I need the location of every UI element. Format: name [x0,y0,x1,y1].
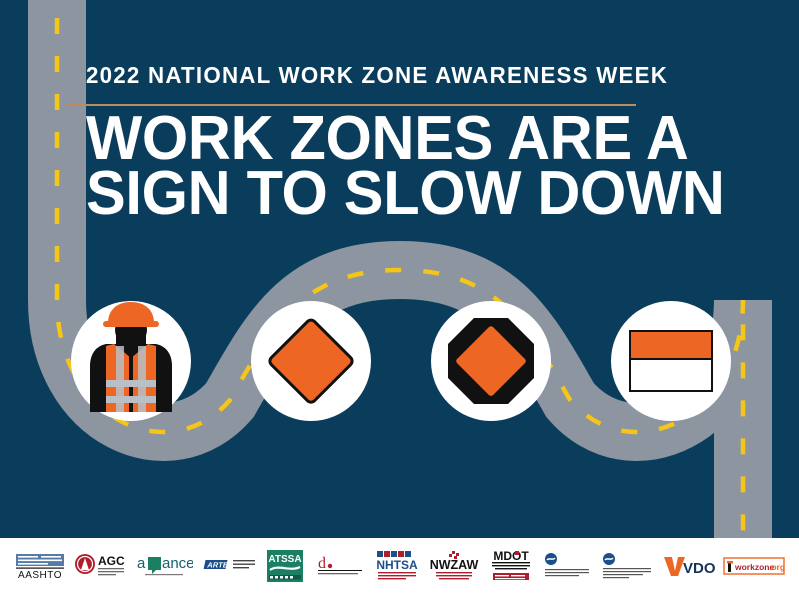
mdot-logo: MDOT [487,547,535,585]
workzonesafety-logo: workzone .org [723,547,785,585]
svg-text:AASHTO: AASHTO [18,570,62,581]
construction-worker-icon [71,301,191,421]
svg-text:AGC: AGC [98,554,125,568]
svg-text:d: d [318,555,326,572]
nhtsa-logo: NHTSA [373,547,421,585]
alliance-logo: a ance [135,547,193,585]
svg-text:VDOT: VDOT [683,560,715,577]
artba-logo: ARTBA [201,547,257,585]
headline-line-2: SIGN TO SLOW DOWN [86,167,700,222]
rectangular-sign-icon [611,301,731,421]
svg-text:a: a [137,555,146,572]
octagon-sign-icon [431,301,551,421]
diamond-warning-sign-icon [251,301,371,421]
atssa-logo: ATSSA [264,547,306,585]
agc-logo: AGC [74,547,128,585]
vdot-logo: VDOT [661,547,715,585]
page-headline: WORK ZONES ARE A SIGN TO SLOW DOWN [86,112,700,221]
usdot-fhwa-logo-2 [600,547,654,585]
state-dot-logo: d [314,547,366,585]
work-zone-awareness-poster: 2022 NATIONAL WORK ZONE AWARENESS WEEK W… [0,0,799,593]
svg-text:NHTSA: NHTSA [377,558,419,572]
sponsor-logo-strip: AASHTO AGC a ance [0,538,799,593]
svg-text:NWZAW: NWZAW [430,558,479,572]
page-kicker: 2022 NATIONAL WORK ZONE AWARENESS WEEK [86,62,668,89]
svg-text:ARTBA: ARTBA [206,560,235,569]
svg-text:MDOT: MDOT [493,549,529,563]
nwzaw-logo: NWZAW [429,547,479,585]
usdot-fhwa-logo [542,547,592,585]
aashto-logo: AASHTO [14,547,66,585]
svg-text:ATSSA: ATSSA [269,554,302,565]
svg-text:.org: .org [769,562,785,572]
svg-text:ance: ance [162,555,193,572]
